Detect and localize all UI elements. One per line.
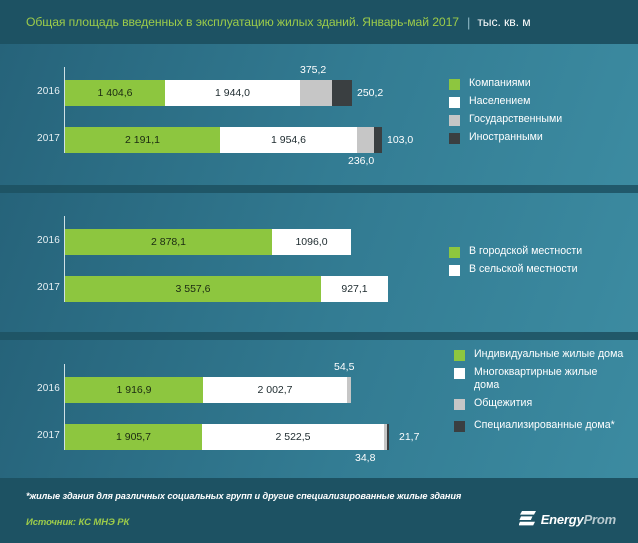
chart1-seg-dark-2016 (332, 80, 352, 106)
legend-label: Государственными (469, 113, 562, 126)
chart1-seg-green-2017: 2 191,1 (65, 127, 220, 153)
chart2-seg-white-2017: 927,1 (321, 276, 388, 302)
legend-item[interactable]: Государственными (449, 113, 562, 126)
legend-swatch-gray-icon (449, 115, 460, 126)
chart3-seg-white-2016: 2 002,7 (203, 377, 347, 403)
header-band: Общая площадь введенных в эксплуатацию ж… (0, 0, 638, 44)
logo-text: EnergyProm (541, 512, 616, 527)
legend-item[interactable]: Общежития (454, 397, 624, 410)
legend-item[interactable]: Специализированные дома* (454, 419, 624, 432)
chart3-outlabel-gray-2017: 34,8 (355, 452, 375, 464)
logo-prom: Prom (584, 512, 616, 527)
legend-item[interactable]: Иностранными (449, 131, 562, 144)
chart3-row-label-2017: 2017 (16, 430, 60, 441)
chart2-row-label-2017: 2017 (16, 282, 60, 293)
legend-item[interactable]: В сельской местности (449, 263, 582, 276)
footnote: *жилые здания для различных социальных г… (26, 491, 461, 501)
chart2-seg-green-2017: 3 557,6 (65, 276, 321, 302)
section-divider-1 (0, 185, 638, 193)
legend-label: В сельской местности (469, 263, 577, 276)
legend-by-locality: В городской местности В сельской местнос… (449, 245, 582, 281)
legend-swatch-gray-icon (454, 399, 465, 410)
chart1-seg-dark-2017 (374, 127, 382, 153)
legend-item[interactable]: Населением (449, 95, 562, 108)
chart2-row-label-2016: 2016 (16, 235, 60, 246)
legend-swatch-white-icon (449, 97, 460, 108)
chart3-outlabel-gray-2016: 54,5 (334, 361, 354, 373)
legend-swatch-white-icon (454, 368, 465, 379)
chart3-seg-green-2016: 1 916,9 (65, 377, 203, 403)
chart3-bar-2017[interactable]: 1 905,7 2 522,5 (65, 424, 389, 450)
title-unit: тыс. кв. м (477, 15, 530, 29)
infographic-page: Общая площадь введенных в эксплуатацию ж… (0, 0, 638, 543)
chart1-seg-gray-2016 (300, 80, 332, 106)
legend-label: Многоквартирные жилые дома (474, 366, 624, 392)
chart1-outlabel-gray-2016: 375,2 (300, 64, 326, 76)
legend-label: Общежития (474, 397, 532, 410)
chart2-seg-white-2016: 1096,0 (272, 229, 351, 255)
legend-item[interactable]: Индивидуальные жилые дома (454, 348, 624, 361)
legend-item[interactable]: Компаниями (449, 77, 562, 90)
chart1-outlabel-dark-2017: 103,0 (387, 134, 413, 146)
legend-label: Иностранными (469, 131, 543, 144)
chart1-outlabel-dark-2016: 250,2 (357, 87, 383, 99)
chart1-bar-2017[interactable]: 2 191,1 1 954,6 (65, 127, 382, 153)
legend-label: Индивидуальные жилые дома (474, 348, 623, 361)
chart1-row-label-2017: 2017 (16, 133, 60, 144)
chart3-seg-dark-2017 (387, 424, 389, 450)
chart1-seg-white-2016: 1 944,0 (165, 80, 300, 106)
section-divider-2 (0, 332, 638, 340)
legend-label: Населением (469, 95, 530, 108)
chart2-seg-green-2016: 2 878,1 (65, 229, 272, 255)
legend-swatch-green-icon (449, 79, 460, 90)
legend-swatch-green-icon (454, 350, 465, 361)
logo-energy: Energy (541, 512, 584, 527)
chart3-outlabel-dark-2017: 21,7 (399, 431, 419, 443)
energyprom-logo[interactable]: EnergyProm (519, 510, 616, 528)
chart1-row-label-2016: 2016 (16, 86, 60, 97)
legend-label: Компаниями (469, 77, 531, 90)
chart1-seg-green-2016: 1 404,6 (65, 80, 165, 106)
chart1-seg-gray-2017 (357, 127, 374, 153)
legend-label: Специализированные дома* (474, 419, 615, 432)
chart2-bar-2016[interactable]: 2 878,1 1096,0 (65, 229, 351, 255)
legend-item[interactable]: В городской местности (449, 245, 582, 258)
legend-item[interactable]: Многоквартирные жилые дома (454, 366, 624, 392)
chart3-row-label-2016: 2016 (16, 383, 60, 394)
energyprom-mark-icon (519, 510, 536, 528)
legend-swatch-green-icon (449, 247, 460, 258)
page-title: Общая площадь введенных в эксплуатацию ж… (26, 15, 459, 29)
chart1-seg-white-2017: 1 954,6 (220, 127, 357, 153)
chart3-seg-green-2017: 1 905,7 (65, 424, 202, 450)
legend-swatch-dark-icon (449, 133, 460, 144)
chart2-bar-2017[interactable]: 3 557,6 927,1 (65, 276, 388, 302)
legend-swatch-dark-icon (454, 421, 465, 432)
chart3-seg-white-2017: 2 522,5 (202, 424, 384, 450)
chart3-bar-2016[interactable]: 1 916,9 2 002,7 (65, 377, 351, 403)
chart1-outlabel-gray-2017: 236,0 (348, 155, 374, 167)
title-separator: | (467, 15, 470, 30)
legend-swatch-white-icon (449, 265, 460, 276)
chart3-seg-gray-2016 (347, 377, 351, 403)
legend-label: В городской местности (469, 245, 582, 258)
chart1-bar-2016[interactable]: 1 404,6 1 944,0 (65, 80, 352, 106)
legend-by-building-type: Индивидуальные жилые дома Многоквартирны… (454, 348, 624, 437)
legend-by-developer: Компаниями Населением Государственными И… (449, 77, 562, 149)
source-label: Источник: КС МНЭ РК (26, 517, 129, 528)
